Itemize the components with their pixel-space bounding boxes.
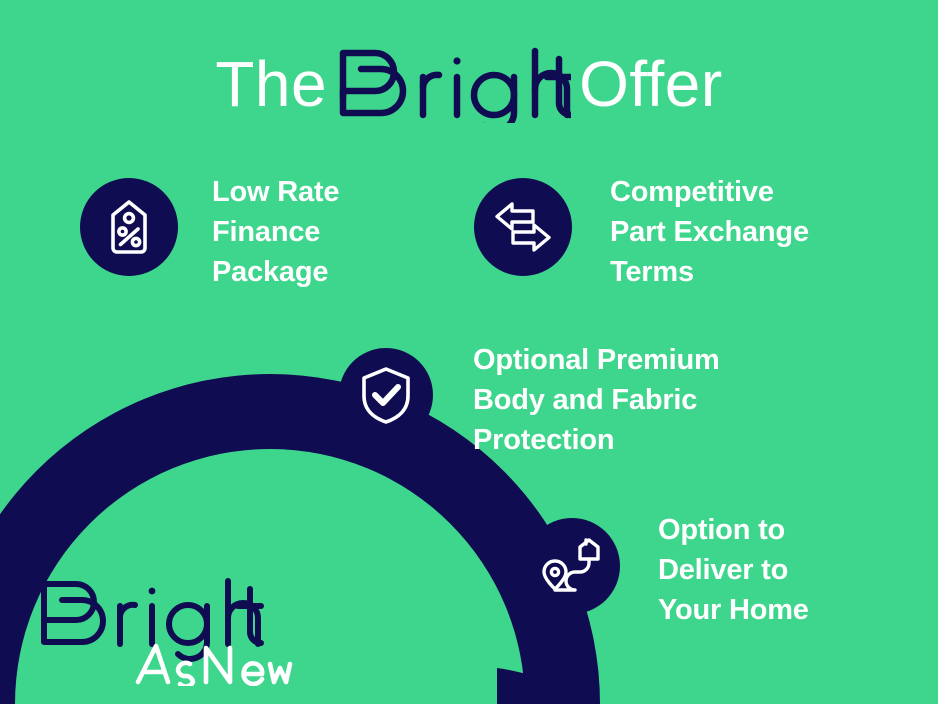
feature-item-low-rate-finance: Low Rate Finance Package [80, 178, 339, 292]
feature-line: Option to [658, 510, 809, 550]
logo-secondary-mark [138, 646, 290, 686]
feature-line: Optional Premium [473, 340, 720, 380]
feature-line: Competitive [610, 172, 809, 212]
feature-line: Finance [212, 212, 339, 252]
feature-line: Deliver to [658, 550, 809, 590]
feature-label: Option to Deliver to Your Home [658, 510, 809, 630]
shield-check-icon [339, 348, 433, 442]
feature-line: Your Home [658, 590, 809, 630]
feature-label: Low Rate Finance Package [212, 172, 339, 292]
feature-item-home-delivery: Option to Deliver to Your Home [524, 518, 809, 630]
brand-wordmark-bright [335, 47, 571, 127]
brand-logo [38, 578, 298, 686]
feature-item-part-exchange: Competitive Part Exchange Terms [474, 178, 809, 292]
poster-canvas: The [0, 0, 938, 704]
feature-line: Package [212, 252, 339, 292]
headline-prefix: The [215, 48, 327, 120]
feature-item-body-fabric-protection: Optional Premium Body and Fabric Protect… [339, 348, 720, 460]
headline-suffix: Offer [579, 48, 723, 120]
navy-wedge [497, 668, 600, 704]
feature-label: Competitive Part Exchange Terms [610, 172, 809, 292]
feature-line: Terms [610, 252, 809, 292]
delivery-route-home-icon [524, 518, 620, 614]
feature-line: Part Exchange [610, 212, 809, 252]
feature-line: Protection [473, 420, 720, 460]
brand-logo-bright-asnew [38, 578, 298, 686]
feature-label: Optional Premium Body and Fabric Protect… [473, 340, 720, 460]
feature-line: Low Rate [212, 172, 339, 212]
price-tag-percent-icon [80, 178, 178, 276]
exchange-arrows-icon [474, 178, 572, 276]
page-title: The [0, 44, 938, 124]
feature-line: Body and Fabric [473, 380, 720, 420]
